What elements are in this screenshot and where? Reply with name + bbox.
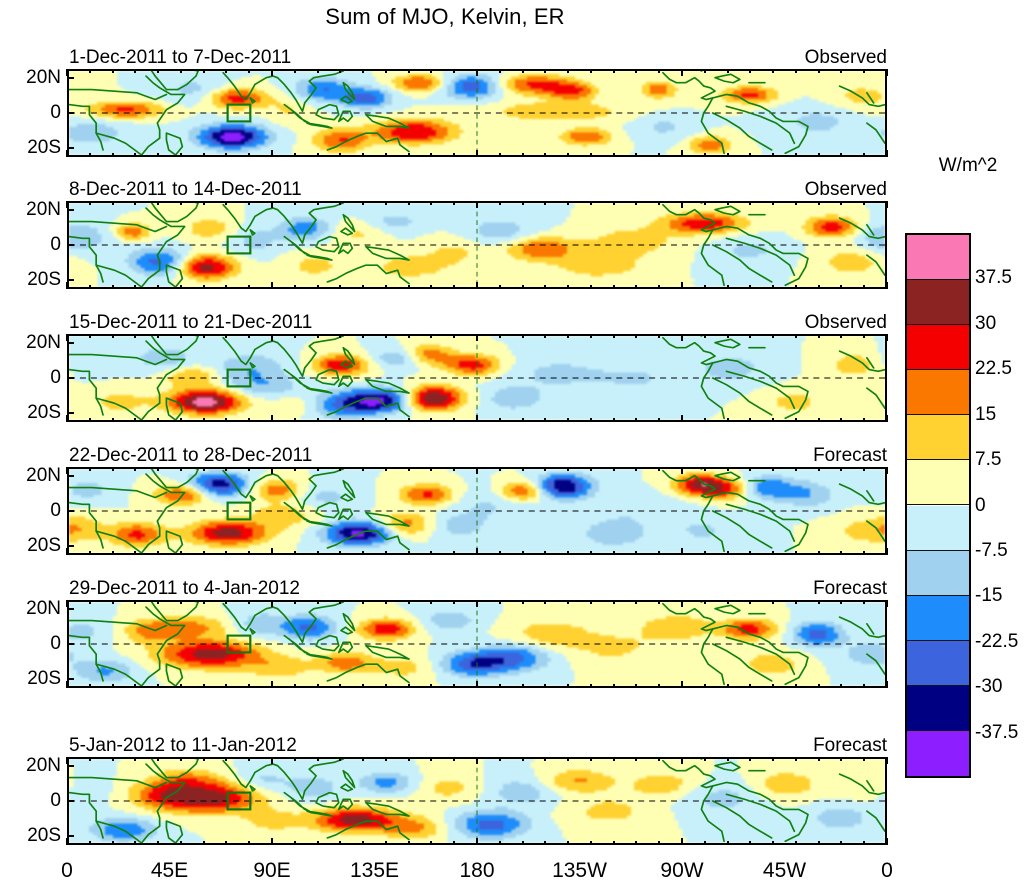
x-axis-tick-mark [795, 551, 797, 555]
x-axis-tick-mark [385, 418, 387, 422]
x-axis-tick-mark [613, 757, 615, 761]
x-axis-tick-mark [840, 69, 842, 73]
x-axis-tick-mark [704, 684, 706, 688]
x-axis-tick-mark [408, 285, 410, 289]
x-axis-tick-mark [544, 467, 546, 471]
colorbar-band [907, 686, 969, 731]
x-axis-tick-mark [635, 600, 637, 604]
colorbar-band [907, 641, 969, 686]
x-axis-tick-mark [180, 418, 182, 422]
forecast-panel: 29-Dec-2011 to 4-Jan-2012Forecast20N020S [67, 600, 887, 688]
x-axis-tick-mark [66, 757, 68, 764]
panel-plot-area [67, 757, 887, 845]
x-axis-tick-mark [795, 69, 797, 73]
x-axis-tick-mark [66, 150, 68, 157]
x-axis-tick-mark [385, 467, 387, 471]
x-axis-tick-mark [385, 285, 387, 289]
x-axis-tick-mark [134, 201, 136, 205]
x-axis-tick-mark [430, 334, 432, 338]
x-axis-tick-mark [795, 757, 797, 761]
forecast-panel: 5-Jan-2012 to 11-Jan-2012Forecast20N020S [67, 757, 887, 845]
x-axis-tick-mark [499, 201, 501, 205]
forecast-panel: 8-Dec-2011 to 14-Dec-2011Observed20N020S [67, 201, 887, 289]
x-axis-tick-mark [613, 153, 615, 157]
x-axis-tick-mark [635, 69, 637, 73]
y-axis-tick-label: 0 [5, 790, 61, 812]
x-axis-tick-mark [681, 69, 683, 76]
x-axis-tick-mark [658, 551, 660, 555]
y-axis-tick-label: 0 [5, 234, 61, 256]
x-axis-tick-mark [544, 334, 546, 338]
x-axis-tick-mark [89, 684, 91, 688]
x-axis-tick-mark [499, 757, 501, 761]
x-axis-tick-mark [658, 69, 660, 73]
x-axis-tick-mark [795, 684, 797, 688]
x-axis-tick-mark [590, 757, 592, 761]
x-axis-tick-mark [590, 418, 592, 422]
x-axis-tick-mark [522, 600, 524, 604]
x-axis-tick-mark [567, 153, 569, 157]
x-axis-tick-mark [112, 285, 114, 289]
colorbar-units-label: W/m^2 [905, 155, 1031, 177]
x-axis-tick-mark [863, 551, 865, 555]
x-axis-tick-mark [385, 69, 387, 73]
x-axis-tick-mark [635, 757, 637, 761]
x-axis-tick-mark [271, 838, 273, 845]
y-axis-tick-mark [67, 77, 74, 79]
x-axis-tick-mark [430, 418, 432, 422]
y-axis-tick-label: 0 [5, 102, 61, 124]
x-axis-tick-mark [840, 153, 842, 157]
x-axis-tick-mark [430, 69, 432, 73]
x-axis-tick-mark [772, 684, 774, 688]
x-axis-tick-mark [658, 684, 660, 688]
x-axis-tick-mark [704, 467, 706, 471]
x-axis-tick-mark [635, 153, 637, 157]
x-axis-tick-mark [658, 418, 660, 422]
x-axis-tick-mark [658, 201, 660, 205]
y-axis-tick-mark [67, 342, 74, 344]
x-axis-tick-mark [772, 69, 774, 73]
x-axis-tick-mark [499, 551, 501, 555]
panel-overlay [69, 71, 885, 155]
x-axis-tick-mark [886, 600, 888, 607]
x-axis-tick-mark [157, 285, 159, 289]
x-axis-tick-mark [567, 600, 569, 604]
x-axis-tick-mark [225, 600, 227, 604]
x-axis-tick-mark [339, 201, 341, 205]
x-axis-tick-mark [567, 69, 569, 73]
x-axis-tick-mark [134, 551, 136, 555]
x-axis-tick-mark [180, 600, 182, 604]
x-axis-tick-mark [727, 201, 729, 205]
x-axis-tick-mark [613, 69, 615, 73]
x-axis-tick-mark [385, 684, 387, 688]
x-axis-tick-mark [704, 285, 706, 289]
colorbar-band [907, 551, 969, 596]
x-axis-tick-mark [522, 201, 524, 205]
x-axis-tick-mark [112, 334, 114, 338]
x-axis-tick-mark [544, 684, 546, 688]
x-axis-tick-mark [886, 150, 888, 157]
x-axis-tick-mark [613, 285, 615, 289]
x-axis-tick-mark [795, 285, 797, 289]
x-axis-tick-mark [818, 684, 820, 688]
colorbar-band [907, 460, 969, 505]
panel-kind-label: Observed [805, 48, 887, 67]
x-axis-tick-mark [408, 600, 410, 604]
x-axis-tick-mark [362, 600, 364, 604]
y-axis-tick-mark [67, 545, 74, 547]
x-axis-tick-mark [362, 684, 364, 688]
x-axis-tick-mark [567, 551, 569, 555]
x-axis-tick-mark [544, 285, 546, 289]
x-axis-tick-mark [112, 600, 114, 604]
x-axis-tick-mark [863, 334, 865, 338]
x-axis-tick-mark [863, 418, 865, 422]
x-axis-tick-mark [886, 838, 888, 845]
mjo-forecast-figure: Sum of MJO, Kelvin, ER 1-Dec-2011 to 7-D… [0, 0, 1031, 889]
x-axis-tick-mark [339, 600, 341, 604]
panel-plot-area [67, 467, 887, 555]
colorbar-tick-label: -15 [975, 585, 1002, 607]
colorbar-tick-label: 15 [975, 404, 996, 426]
x-axis-tick-mark [840, 600, 842, 604]
x-axis-tick-mark [430, 467, 432, 471]
x-axis-tick-mark [180, 467, 182, 471]
x-axis-tick-mark [795, 201, 797, 205]
x-axis-tick-mark [749, 757, 751, 761]
x-axis-tick-mark [476, 757, 478, 764]
x-axis-tick-mark [886, 69, 888, 76]
x-axis-tick-mark [522, 467, 524, 471]
x-axis-tick-mark [704, 334, 706, 338]
y-axis-tick-label: 20S [5, 535, 61, 557]
page-title: Sum of MJO, Kelvin, ER [0, 4, 890, 30]
colorbar-tick-label: -30 [975, 676, 1002, 698]
x-axis-tick-mark [385, 600, 387, 604]
x-axis-tick-mark [89, 757, 91, 761]
x-axis-tick-mark [453, 69, 455, 73]
x-axis-tick-mark [567, 285, 569, 289]
x-axis-tick-mark [658, 467, 660, 471]
x-axis-tick-mark [248, 285, 250, 289]
x-axis-tick-mark [294, 153, 296, 157]
x-axis-tick-mark [658, 757, 660, 761]
x-axis-tick-mark [544, 757, 546, 761]
panel-overlay [69, 759, 885, 843]
x-axis-tick-mark [248, 600, 250, 604]
x-axis-tick-mark [203, 467, 205, 471]
x-axis-tick-mark [681, 150, 683, 157]
x-axis-tick-mark [704, 418, 706, 422]
colorbar-band [907, 280, 969, 325]
x-axis-tick-mark [476, 334, 478, 341]
x-axis-tick-mark [362, 201, 364, 205]
x-axis-tick-mark [339, 551, 341, 555]
x-axis-tick-mark [886, 282, 888, 289]
x-axis-tick-mark [89, 551, 91, 555]
panel-kind-label: Forecast [813, 446, 887, 465]
x-axis-tick-mark [567, 418, 569, 422]
x-axis-tick-mark [635, 418, 637, 422]
x-axis-tick-mark [271, 757, 273, 764]
x-axis-tick-mark [66, 415, 68, 422]
x-axis-tick-mark [339, 757, 341, 761]
x-axis-tick-mark [567, 201, 569, 205]
x-axis-tick-mark [840, 684, 842, 688]
forecast-panel: 1-Dec-2011 to 7-Dec-2011Observed20N020S [67, 69, 887, 157]
x-axis-tick-mark [658, 285, 660, 289]
x-axis-tick-mark [362, 418, 364, 422]
x-axis-tick-mark [613, 201, 615, 205]
x-axis-tick-mark [886, 467, 888, 474]
x-axis-tick-mark [590, 467, 592, 471]
x-axis-tick-mark [89, 153, 91, 157]
x-axis-tick-mark [818, 334, 820, 338]
x-axis-tick-mark [134, 418, 136, 422]
panel-date-range: 8-Dec-2011 to 14-Dec-2011 [69, 180, 302, 199]
x-axis-tick-mark [567, 684, 569, 688]
x-axis-tick-mark [294, 551, 296, 555]
x-axis-tick-mark [157, 201, 159, 205]
x-axis-tick-mark [317, 153, 319, 157]
panel-date-range: 22-Dec-2011 to 28-Dec-2011 [69, 446, 312, 465]
colorbar [905, 233, 971, 778]
x-axis-tick-mark [635, 467, 637, 471]
x-axis-tick-mark [180, 201, 182, 205]
colorbar-band [907, 731, 969, 776]
x-axis-tick-mark [430, 201, 432, 205]
x-axis-tick-mark [112, 467, 114, 471]
x-axis-tick-label: 135W [552, 859, 607, 883]
x-axis-tick-mark [749, 285, 751, 289]
x-axis-tick-mark [271, 69, 273, 76]
x-axis-tick-mark [772, 334, 774, 338]
x-axis-tick-mark [248, 153, 250, 157]
panel-kind-label: Observed [805, 180, 887, 199]
x-axis-tick-mark [590, 334, 592, 338]
y-axis-tick-mark [67, 643, 74, 645]
x-axis-tick-mark [248, 467, 250, 471]
x-axis-tick-mark [248, 69, 250, 73]
y-axis-tick-mark [67, 279, 74, 281]
x-axis-tick-mark [886, 201, 888, 208]
x-axis-tick-mark [635, 551, 637, 555]
x-axis-tick-mark [66, 282, 68, 289]
x-axis-tick-mark [180, 757, 182, 761]
y-axis-tick-label: 20N [5, 332, 61, 354]
x-axis-tick-mark [795, 418, 797, 422]
x-axis-tick-mark [749, 201, 751, 205]
x-axis-tick-mark [112, 153, 114, 157]
x-axis-tick-mark [476, 838, 478, 845]
colorbar-tick-label: -22.5 [975, 631, 1018, 653]
x-axis-tick-label: 0 [881, 859, 893, 883]
x-axis-tick-mark [476, 150, 478, 157]
x-axis-tick-mark [795, 467, 797, 471]
panel-overlay [69, 336, 885, 420]
panel-overlay [69, 602, 885, 686]
x-axis-tick-mark [886, 548, 888, 555]
x-axis-tick-mark [317, 69, 319, 73]
x-axis-tick-mark [203, 418, 205, 422]
y-axis-tick-label: 20N [5, 465, 61, 487]
x-axis-tick-mark [157, 600, 159, 604]
x-axis-tick-mark [704, 69, 706, 73]
x-axis-tick-mark [294, 600, 296, 604]
x-axis-tick-mark [430, 285, 432, 289]
x-axis-tick-mark [704, 757, 706, 761]
x-axis-tick-mark [271, 150, 273, 157]
x-axis-tick-label: 135E [350, 859, 399, 883]
x-axis-tick-mark [590, 551, 592, 555]
x-axis-tick-mark [339, 153, 341, 157]
x-axis-tick-mark [749, 684, 751, 688]
x-axis-tick-mark [818, 201, 820, 205]
x-axis-tick-mark [522, 69, 524, 73]
x-axis-tick-mark [157, 757, 159, 761]
x-axis-tick-mark [408, 69, 410, 73]
x-axis-tick-mark [681, 757, 683, 764]
y-axis-tick-mark [67, 244, 74, 246]
x-axis-tick-mark [522, 334, 524, 338]
x-axis-tick-mark [112, 757, 114, 761]
x-axis-tick-label: 45W [763, 859, 806, 883]
x-axis-tick-mark [499, 418, 501, 422]
x-axis-tick-mark [499, 153, 501, 157]
x-axis-tick-mark [362, 551, 364, 555]
x-axis-tick-mark [408, 153, 410, 157]
x-axis-tick-mark [818, 69, 820, 73]
x-axis-tick-mark [294, 69, 296, 73]
y-axis-tick-mark [67, 800, 74, 802]
x-axis-tick-mark [362, 334, 364, 338]
x-axis-tick-mark [658, 153, 660, 157]
y-axis-tick-mark [67, 377, 74, 379]
x-axis-tick-mark [180, 153, 182, 157]
x-axis-tick-mark [225, 418, 227, 422]
x-axis-tick-mark [225, 153, 227, 157]
x-axis-tick-mark [840, 757, 842, 761]
x-axis-tick-mark [203, 684, 205, 688]
x-axis-tick-mark [294, 285, 296, 289]
panel-overlay [69, 469, 885, 553]
x-axis-tick-mark [294, 757, 296, 761]
x-axis-tick-mark [727, 684, 729, 688]
x-axis-tick-mark [818, 153, 820, 157]
colorbar-band [907, 370, 969, 415]
x-axis-tick-mark [294, 418, 296, 422]
x-axis-tick-mark [613, 418, 615, 422]
y-axis-tick-mark [67, 510, 74, 512]
x-axis-tick-mark [727, 467, 729, 471]
x-axis-tick-mark [134, 684, 136, 688]
x-axis-tick-mark [385, 201, 387, 205]
x-axis-tick-mark [66, 467, 68, 474]
x-axis-tick-mark [681, 600, 683, 607]
x-axis-tick-mark [863, 467, 865, 471]
colorbar-tick-label: -37.5 [975, 722, 1018, 744]
x-axis-tick-mark [66, 548, 68, 555]
x-axis-tick-mark [727, 551, 729, 555]
x-axis-tick-mark [476, 600, 478, 607]
x-axis-tick-mark [818, 418, 820, 422]
x-axis-tick-mark [681, 838, 683, 845]
x-axis-tick-mark [476, 681, 478, 688]
x-axis-tick-mark [772, 285, 774, 289]
x-axis-tick-mark [317, 201, 319, 205]
x-axis-tick-mark [727, 69, 729, 73]
forecast-panel: 22-Dec-2011 to 28-Dec-2011Forecast20N020… [67, 467, 887, 555]
x-axis-tick-mark [704, 153, 706, 157]
panel-kind-label: Observed [805, 313, 887, 332]
x-axis-tick-mark [385, 551, 387, 555]
x-axis-tick-mark [613, 684, 615, 688]
x-axis-tick-mark [112, 684, 114, 688]
panel-plot-area [67, 69, 887, 157]
x-axis-tick-label: 0 [61, 859, 73, 883]
x-axis-tick-mark [248, 201, 250, 205]
x-axis-tick-mark [590, 684, 592, 688]
x-axis-tick-mark [681, 548, 683, 555]
x-axis-tick-mark [522, 418, 524, 422]
x-axis-tick-mark [886, 757, 888, 764]
x-axis-tick-mark [134, 285, 136, 289]
y-axis-tick-label: 20N [5, 598, 61, 620]
x-axis-tick-mark [225, 757, 227, 761]
x-axis-tick-mark [681, 467, 683, 474]
y-axis-tick-mark [67, 147, 74, 149]
x-axis-tick-mark [749, 334, 751, 338]
forecast-panel: 15-Dec-2011 to 21-Dec-2011Observed20N020… [67, 334, 887, 422]
y-axis-tick-mark [67, 209, 74, 211]
y-axis-tick-label: 20N [5, 67, 61, 89]
x-axis-tick-mark [339, 334, 341, 338]
x-axis-tick-mark [704, 201, 706, 205]
x-axis-tick-mark [499, 684, 501, 688]
x-axis-tick-mark [453, 418, 455, 422]
x-axis-tick-mark [271, 467, 273, 474]
x-axis-tick-mark [453, 600, 455, 604]
x-axis-tick-mark [499, 600, 501, 604]
colorbar-band [907, 415, 969, 460]
x-axis-tick-mark [681, 282, 683, 289]
x-axis-tick-mark [317, 418, 319, 422]
x-axis-tick-mark [727, 153, 729, 157]
x-axis-tick-mark [590, 600, 592, 604]
panel-date-range: 15-Dec-2011 to 21-Dec-2011 [69, 313, 312, 332]
y-axis-tick-mark [67, 475, 74, 477]
x-axis-tick-mark [544, 551, 546, 555]
x-axis-tick-mark [840, 334, 842, 338]
x-axis-tick-mark [112, 201, 114, 205]
x-axis-tick-mark [134, 334, 136, 338]
y-axis-tick-label: 0 [5, 367, 61, 389]
x-axis-tick-mark [453, 551, 455, 555]
x-axis-tick-mark [795, 153, 797, 157]
panel-kind-label: Forecast [813, 579, 887, 598]
x-axis-tick-mark [840, 551, 842, 555]
x-axis-tick-mark [727, 285, 729, 289]
x-axis-tick-mark [134, 69, 136, 73]
x-axis-tick-mark [840, 418, 842, 422]
x-axis-tick-mark [613, 467, 615, 471]
panel-kind-label: Forecast [813, 736, 887, 755]
x-axis-tick-mark [749, 467, 751, 471]
x-axis-tick-mark [499, 285, 501, 289]
x-axis-tick-mark [294, 467, 296, 471]
